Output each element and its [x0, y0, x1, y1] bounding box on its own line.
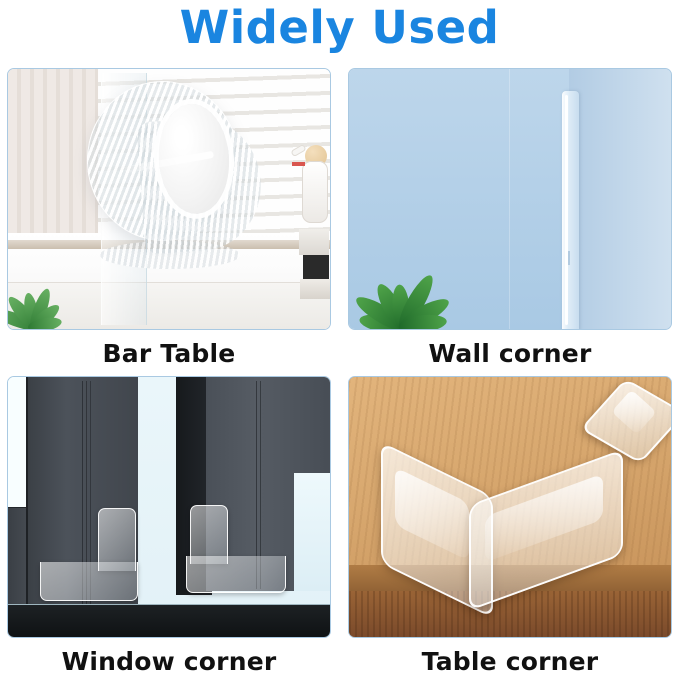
guard-highlight: [565, 95, 568, 325]
window-pane: [294, 473, 331, 591]
page-title: Widely Used: [0, 0, 679, 60]
astronaut-figurine-body: [302, 161, 328, 223]
panel-bar-table[interactable]: Bar Table: [7, 68, 331, 368]
photo-bar-table[interactable]: [7, 68, 331, 330]
panel-caption-table-corner: Table corner: [348, 647, 672, 676]
panel-wall-corner[interactable]: Wall corner: [348, 68, 672, 368]
photo-table-corner[interactable]: [348, 376, 672, 638]
panel-caption-bar-table: Bar Table: [7, 339, 331, 368]
photo-window-corner[interactable]: [7, 376, 331, 638]
wall-seam: [509, 69, 510, 330]
photo-window-corner-scene: [8, 377, 330, 637]
adjacent-wall: [569, 69, 671, 330]
shelf-book: [300, 279, 331, 299]
potted-plant: [7, 265, 86, 330]
panel-caption-window-corner: Window corner: [7, 647, 331, 676]
floor: [8, 605, 331, 637]
l-shaped-corner-protector-icon: [40, 562, 138, 601]
panel-table-corner[interactable]: Table corner: [348, 376, 672, 676]
window-pane: [8, 377, 28, 510]
photo-bar-table-scene: [8, 69, 330, 329]
panel-caption-wall-corner: Wall corner: [348, 339, 672, 368]
l-shaped-corner-protector-icon: [186, 556, 286, 593]
shelf-book: [303, 255, 329, 279]
shelf-book: [299, 229, 329, 255]
figurine-stripe: [292, 162, 305, 166]
usage-scenarios-grid: Bar Table W: [7, 68, 672, 674]
potted-plant: [355, 225, 485, 330]
table-front-face: [349, 591, 672, 638]
panel-window-corner[interactable]: Window corner: [7, 376, 331, 676]
photo-wall-corner[interactable]: [348, 68, 672, 330]
guard-seam-mark: [568, 251, 570, 265]
photo-wall-corner-scene: [349, 69, 671, 329]
photo-table-corner-scene: [349, 377, 671, 637]
